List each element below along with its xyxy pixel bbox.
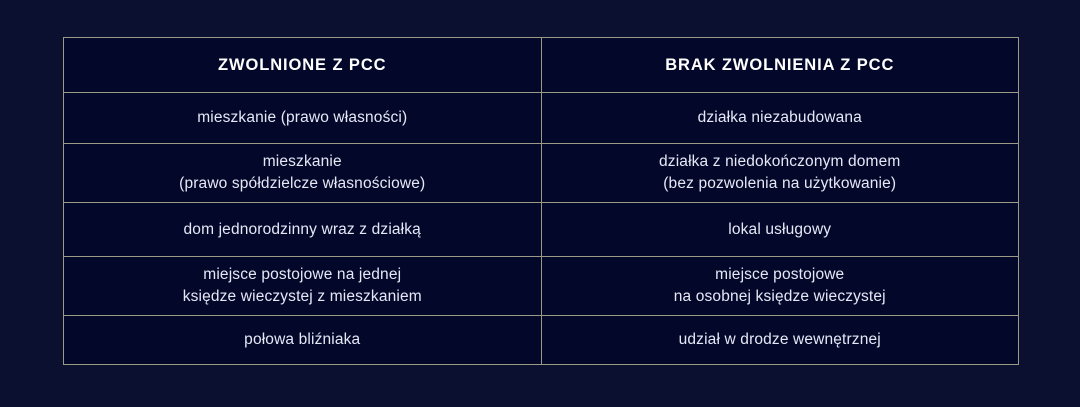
cell-exempt-1: mieszkanie (prawo własności) bbox=[64, 93, 542, 144]
cell-not-exempt-4: miejsce postojowe na osobnej księdze wie… bbox=[541, 257, 1019, 316]
table-header: ZWOLNIONE Z PCC BRAK ZWOLNIENIA Z PCC bbox=[64, 38, 1019, 93]
cell-not-exempt-1: działka niezabudowana bbox=[541, 93, 1019, 144]
cell-not-exempt-5: udział w drodze wewnętrznej bbox=[541, 316, 1019, 365]
cell-line: dom jednorodzinny wraz z działką bbox=[74, 219, 531, 241]
cell-line: (prawo spółdzielcze własnościowe) bbox=[74, 173, 531, 195]
pcc-comparison-table-wrapper: ZWOLNIONE Z PCC BRAK ZWOLNIENIA Z PCC mi… bbox=[63, 37, 1019, 365]
table-body: mieszkanie (prawo własności) działka nie… bbox=[64, 93, 1019, 365]
table-row: połowa bliźniaka udział w drodze wewnętr… bbox=[64, 316, 1019, 365]
cell-line: mieszkanie (prawo własności) bbox=[74, 107, 531, 129]
table-header-row: ZWOLNIONE Z PCC BRAK ZWOLNIENIA Z PCC bbox=[64, 38, 1019, 93]
cell-line: miejsce postojowe na jednej bbox=[74, 264, 531, 286]
column-header-not-exempt: BRAK ZWOLNIENIA Z PCC bbox=[541, 38, 1019, 93]
cell-line: (bez pozwolenia na użytkowanie) bbox=[552, 173, 1009, 195]
cell-exempt-2: mieszkanie (prawo spółdzielcze własności… bbox=[64, 144, 542, 203]
cell-exempt-4: miejsce postojowe na jednej księdze wiec… bbox=[64, 257, 542, 316]
cell-line: miejsce postojowe bbox=[552, 264, 1009, 286]
cell-line: księdze wieczystej z mieszkaniem bbox=[74, 286, 531, 308]
cell-line: udział w drodze wewnętrznej bbox=[552, 329, 1009, 351]
cell-line: lokal usługowy bbox=[552, 219, 1009, 241]
cell-line: połowa bliźniaka bbox=[74, 329, 531, 351]
cell-exempt-5: połowa bliźniaka bbox=[64, 316, 542, 365]
table-row: dom jednorodzinny wraz z działką lokal u… bbox=[64, 203, 1019, 257]
table-row: miejsce postojowe na jednej księdze wiec… bbox=[64, 257, 1019, 316]
cell-exempt-3: dom jednorodzinny wraz z działką bbox=[64, 203, 542, 257]
cell-line: działka z niedokończonym domem bbox=[552, 151, 1009, 173]
cell-not-exempt-3: lokal usługowy bbox=[541, 203, 1019, 257]
table-row: mieszkanie (prawo własności) działka nie… bbox=[64, 93, 1019, 144]
table-row: mieszkanie (prawo spółdzielcze własności… bbox=[64, 144, 1019, 203]
cell-line: mieszkanie bbox=[74, 151, 531, 173]
cell-line: na osobnej księdze wieczystej bbox=[552, 286, 1009, 308]
column-header-exempt: ZWOLNIONE Z PCC bbox=[64, 38, 542, 93]
page-root: ZWOLNIONE Z PCC BRAK ZWOLNIENIA Z PCC mi… bbox=[0, 0, 1080, 407]
cell-not-exempt-2: działka z niedokończonym domem (bez pozw… bbox=[541, 144, 1019, 203]
cell-line: działka niezabudowana bbox=[552, 107, 1009, 129]
pcc-comparison-table: ZWOLNIONE Z PCC BRAK ZWOLNIENIA Z PCC mi… bbox=[63, 37, 1019, 365]
